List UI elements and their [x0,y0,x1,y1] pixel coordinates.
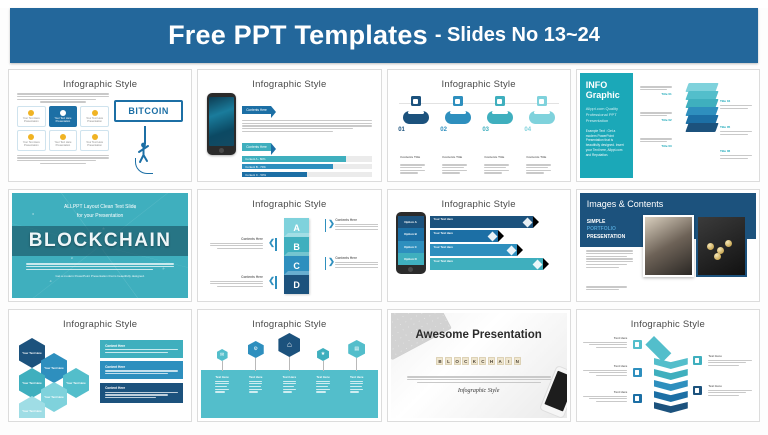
key-icon [28,134,34,140]
tile: C [462,357,469,365]
coin-icon [707,243,714,250]
tile: O [454,357,461,365]
option-banner: Your Text Here [430,258,544,270]
note-heading: Contents Here [335,256,377,260]
bars-tag: Contents Here [242,143,271,150]
phone-option: Option B [398,228,424,240]
rope-tail-graphic [135,158,153,174]
progress-label: Content A - 80% [242,157,265,161]
hex-heading: Your Text Here [22,351,41,355]
banner-heading: Your Text Here [434,217,453,221]
step-heading: Contents Title [484,155,504,159]
slide-24-title: Infographic Style [580,313,756,330]
pin-heading: Text Here [350,375,363,379]
slide-23-title: Awesome Presentation [391,313,567,341]
layer-chevron [654,402,688,413]
pin-column: ⌂ Text Here [273,333,307,418]
icon-card-label: Your Text Here Presentation [18,117,45,123]
flag-icon [693,356,702,365]
tile: I [505,357,512,365]
hero-body [12,256,188,270]
note-heading: Text Here [583,390,627,394]
slide-20-title: Images & Contents [580,193,756,209]
phone-option: Option C [398,241,424,253]
phone-option: Option A [398,216,424,228]
cube-note: Contents Here [210,275,263,289]
slide-thumbnail-21[interactable]: Infographic Style Your Text Here Your Te… [8,309,192,422]
pin-heading: Text Here [215,375,228,379]
slide-thumbnail-16[interactable]: INFO Graphic Allppt.com Quality Professi… [576,69,760,182]
chain-link-graphic [403,111,429,124]
monitor-icon [495,96,505,106]
progress-fill: Content C - 50% [242,172,307,178]
cube-note: Contents Here [335,256,377,270]
caption-heading: Title 06 [720,149,752,154]
chevron-right-icon: ❯ [328,219,335,228]
cube-note: Contents Here [335,218,377,232]
sidebar-body: Example Text : Get a modern PowerPoint P… [586,129,627,158]
caption-heading: Title 02 [640,118,672,123]
cube-d: D [284,275,309,294]
left-caption: Title 03 [640,137,672,148]
kicker-line2: PORTFOLIO [587,226,616,232]
user-icon [60,110,66,116]
stacked-box-graphic [687,83,717,131]
hero-subtitle-line2: for your Presentation [77,213,123,219]
star-icon: ★ [317,348,329,361]
body-text [586,249,634,269]
icon-card-label: Your Text Here Presentation [18,141,45,147]
slide-thumbnail-15[interactable]: Infographic Style 01 Contents Title [387,69,571,182]
hex-heading: Your Text Here [22,381,41,385]
sidebar-subtitle: Allppt.com Quality Professional PPT Pres… [586,106,627,124]
footer-note [586,285,634,292]
chevron-left-icon: ❮ [268,276,275,285]
tile: A [497,357,504,365]
chevron-right-icon: ❯ [328,257,335,266]
slide-14-title: Infographic Style [201,73,377,90]
bar-heading: Content Here [105,344,178,348]
phone-mockup [207,93,236,155]
chain-step: 01 Contents Title [396,96,435,175]
pin-heading: Text Here [316,375,329,379]
pin-heading: Text Here [249,375,262,379]
mail-icon: ✉ [217,349,228,361]
tile: N [514,357,521,365]
chart-icon [633,394,642,403]
slide-13-title: Infographic Style [12,73,188,90]
content-bar-group: Content Here Content Here Content Here [100,334,183,407]
handshake-icon [60,134,66,140]
info-graphic-sidebar: INFO Graphic Allppt.com Quality Professi… [580,73,633,178]
progress-bar-row: Content C - 50% [242,172,371,178]
note-heading: Contents Here [210,237,263,241]
progress-fill: Content A - 80% [242,156,345,162]
step-number: 01 [398,127,405,133]
download-icon [92,134,98,140]
caption-heading: Title 05 [720,125,752,130]
option-banner: Your Text Here [430,230,499,242]
slide-17-title: BLOCKCHAIN [29,230,172,252]
step-number: 02 [440,127,447,133]
layer-note: Text Here [583,364,627,378]
option-banner: Your Text Here [430,244,517,256]
icon-card[interactable]: Your Text Here Presentation [17,106,46,127]
photo-hand-phone [643,215,694,277]
accent-bar [325,257,327,270]
progress-label: Content C - 50% [242,173,266,177]
slide-15-title: Infographic Style [391,73,567,90]
body-text [391,368,567,383]
page-subtitle: - Slides No 13~24 [435,24,600,47]
bar-heading: Content Here [105,386,178,390]
tile: K [471,357,478,365]
signature-text: Infographic Style [391,388,567,394]
note-heading: Text Here [583,364,627,368]
note-heading: Contents Here [335,218,377,222]
icon-card-active[interactable]: Your Text Here Presentation [49,106,78,127]
kicker-text: SIMPLE PORTFOLIO PRESENTATION [587,219,625,241]
option-banner: Your Text Here [430,216,533,228]
cube-stack-diagram: A B C D ❯ Contents Here ❮ Contents Here [201,210,377,296]
chat-icon [453,96,463,106]
hexagon-cluster: Your Text Here Your Text Here Your Text … [17,334,95,406]
slide-thumbnail-19[interactable]: Infographic Style Option A Option B Opti… [387,189,571,302]
step-heading: Contents Title [442,155,462,159]
chain-step: 03 Contents Title [480,96,519,175]
document-icon [411,96,421,106]
step-heading: Contents Title [400,155,420,159]
slide-thumbnail-23[interactable]: Awesome Presentation BLOCKCHAIN Infograp… [387,309,571,422]
slide-16-title: INFO Graphic [586,81,627,101]
gear-icon [537,96,547,106]
caption-heading: Title 04 [720,99,752,104]
hero-subtitle: ALLPPT Layout Clean Text Slide for your … [12,193,188,220]
section-tag: Contents Here [242,106,271,113]
layer-top-diamond [645,336,671,362]
icon-card[interactable]: Your Text Here Presentation [80,130,109,151]
home-icon: ⌂ [278,333,300,357]
note-heading: Text Here [583,336,627,340]
layer-note: Text Here [583,390,627,404]
accent-bar [325,219,327,232]
chain-link-graphic [445,111,471,124]
chevron-left-icon: ❮ [268,238,275,247]
content-bar: Content Here [100,383,183,404]
right-caption: Title 04 [720,99,752,110]
icon-card-label: Your Text Here Presentation [50,141,77,147]
icon-card[interactable]: Your Text Here Presentation [80,106,109,127]
left-caption: Title 02 [640,111,672,122]
layers-icon [633,368,642,377]
mail-icon [633,340,642,349]
coin-icon [725,240,732,247]
bar-heading: Content Here [105,365,178,369]
layer-chevron [654,358,688,369]
icon-card-label: Your Text Here Presentation [81,141,108,147]
layer-chevron [654,369,688,380]
coin-icon [714,253,721,260]
note-heading: Text Here [708,354,752,358]
icon-card[interactable]: Your Text Here Presentation [49,130,78,151]
tile: L [445,357,452,365]
layer-note: Text Here [708,354,752,368]
step-heading: Contents Title [526,155,546,159]
gear-icon: ⚙ [248,341,264,358]
right-caption: Title 05 [720,125,752,136]
layer-chevron [654,391,688,402]
option-banner-group: Your Text Here Your Text Here Your Text … [430,212,562,274]
progress-fill: Content B - 70% [242,164,332,170]
hero-subtitle-line1: ALLPPT Layout Clean Text Slide [64,204,136,210]
slide-grid: Infographic Style Your Text Here Present… [8,69,760,422]
page-title: Free PPT Templates [168,20,428,51]
note-heading: Contents Here [210,275,263,279]
slide-thumbnail-24[interactable]: Infographic Style Text Here Tex [576,309,760,422]
page-header-banner: Free PPT Templates - Slides No 13~24 [10,8,758,63]
accent-bar [275,238,277,251]
content-bar: Content Here [100,361,183,379]
hero-band: BLOCKCHAIN [12,226,188,256]
chain-timeline: 01 Contents Title 02 [391,90,567,175]
chain-link-graphic [487,111,513,124]
icon-card-label: Your Text Here Presentation [81,117,108,123]
slide-thumbnail-20[interactable]: Images & Contents SIMPLE PORTFOLIO PRESE… [576,189,760,302]
chain-step: 02 Contents Title [438,96,477,175]
step-number: 04 [524,127,531,133]
layer-chevron [654,380,688,391]
banner-heading: Your Text Here [434,245,453,249]
kicker-line1: SIMPLE [587,219,606,225]
layer-note: Text Here [708,384,752,398]
banner-heading: Your Text Here [434,259,453,263]
slide-thumbnail-22[interactable]: Infographic Style ✉ Text Here ⚙ [197,309,381,422]
chain-link-graphic [529,111,555,124]
pin-column: ✉ Text Here [205,333,239,418]
caption-heading: Title 03 [640,144,672,149]
home-button-icon [219,148,224,153]
cube-note: Contents Here [210,237,263,251]
banner-heading: Your Text Here [434,231,453,235]
thumbnail-sheet: Free PPT Templates - Slides No 13~24 Inf… [0,8,768,435]
slide-thumbnail-14[interactable]: Infographic Style Contents Here Contents… [197,69,381,182]
phone-screen: Option A Option B Option C Option D [398,216,424,265]
pin-column: ▤ Text Here [340,333,374,418]
content-bar: Content Here [100,340,183,358]
left-caption: Title 01 [640,85,672,96]
hex-heading: Your Text Here [66,381,85,385]
caption-heading: Title 01 [640,92,672,97]
progress-bar-row: Content A - 80% [242,156,371,162]
icon-card[interactable]: Your Text Here Presentation [17,130,46,151]
step-number: 03 [482,127,489,133]
progress-label: Content B - 70% [242,165,266,169]
note-heading: Text Here [708,384,752,388]
progress-bar-row: Content B - 70% [242,164,371,170]
icon-card-group: Your Text Here Presentation Your Text He… [17,106,109,151]
slide-thumbnail-13[interactable]: Infographic Style Your Text Here Present… [8,69,192,182]
photo-coins-keyboard [696,215,747,277]
book-icon [693,386,702,395]
icon-card-label: Your Text Here Presentation [50,117,77,123]
right-caption: Title 06 [720,149,752,160]
pin-column: ★ Text Here [306,333,340,418]
sun-icon [92,110,98,116]
pin-heading: Text Here [283,375,296,379]
slide-thumbnail-18[interactable]: Infographic Style A B C D ❯ Contents Her… [197,189,381,302]
kicker-line3: PRESENTATION [587,234,625,240]
home-button-icon [408,267,413,272]
progress-bar-group: Content A - 80% Content B - 70% Cont [242,156,371,178]
layer-diagram: Text Here Text Here Text Here [580,330,756,416]
tile: H [488,357,495,365]
phone-option: Option D [398,253,424,265]
hex-heading: Your Text Here [44,366,63,370]
accent-bar [275,276,277,289]
bitcoin-sign: BITCOIN [114,100,183,122]
phone-mockup: Option A Option B Option C Option D [396,212,426,274]
chain-step: 04 Contents Title [522,96,561,175]
slide-19-title: Infographic Style [391,193,567,210]
tile: B [436,357,443,365]
coin-icon [28,110,34,116]
scrabble-tiles: BLOCKCHAIN [391,350,567,368]
slide-thumbnail-17[interactable]: ALLPPT Layout Clean Text Slide for your … [8,189,192,302]
pin-column: ⚙ Text Here [239,333,273,418]
tile: C [479,357,486,365]
slide-18-title: Infographic Style [201,193,377,210]
grid-icon: ▤ [348,340,365,358]
slide-21-title: Infographic Style [12,313,188,330]
hex-heading: Your Text Here [22,409,41,413]
phone-screen [209,97,234,146]
stack-box [685,123,718,132]
hex-heading: Your Text Here [44,395,63,399]
hero-footer: Get a modern PowerPoint Presentation tha… [12,274,188,278]
layer-note: Text Here [583,336,627,350]
